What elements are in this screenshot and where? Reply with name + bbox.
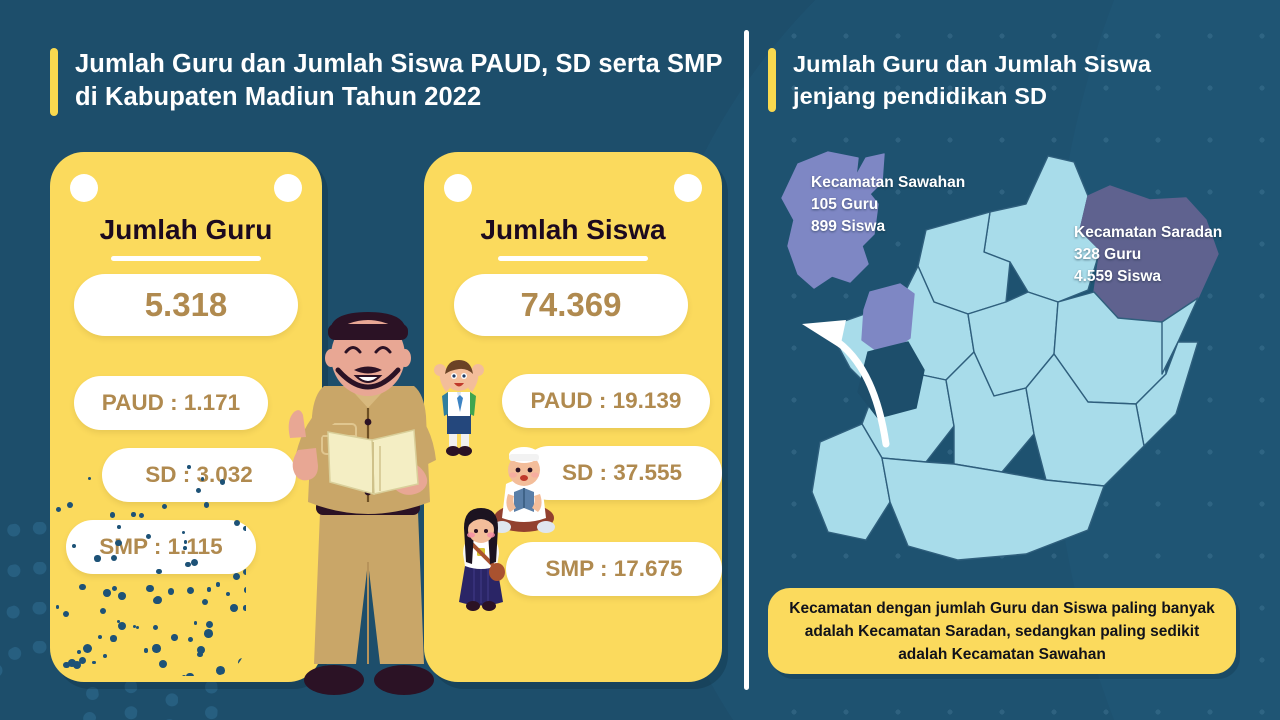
- right-panel-heading: Jumlah Guru dan Jumlah Siswa jenjang pen…: [768, 48, 1238, 112]
- student-girl-illustration: [452, 506, 510, 614]
- map-label-saradan: Kecamatan Saradan 328 Guru 4.559 Siswa: [1074, 222, 1222, 288]
- card-title-underline: [498, 256, 648, 261]
- right-panel-title: Jumlah Guru dan Jumlah Siswa jenjang pen…: [793, 48, 1238, 112]
- infographic-canvas: Jumlah Guru dan Jumlah Siswa PAUD, SD se…: [0, 0, 1280, 720]
- card-punch-hole-left: [70, 174, 98, 202]
- guru-row-paud: PAUD : 1.171: [74, 376, 268, 430]
- map-label-sawahan: Kecamatan Sawahan 105 Guru 899 Siswa: [811, 172, 965, 238]
- map-label-sawahan-name: Kecamatan Sawahan: [811, 172, 965, 194]
- card-title-underline: [111, 256, 261, 261]
- guru-row-sd: SD : 3.032: [102, 448, 296, 502]
- guru-row-smp: SMP : 1.115: [66, 520, 256, 574]
- map-label-saradan-siswa: 4.559 Siswa: [1074, 266, 1222, 288]
- panel-divider: [744, 30, 749, 690]
- card-punch-hole-left: [444, 174, 472, 202]
- summary-note-text: Kecamatan dengan jumlah Guru dan Siswa p…: [768, 597, 1236, 666]
- card-title-siswa: Jumlah Siswa: [424, 214, 722, 246]
- card-punch-hole-right: [674, 174, 702, 202]
- card-title-guru: Jumlah Guru: [50, 214, 322, 246]
- siswa-row-paud: PAUD : 19.139: [502, 374, 710, 428]
- heading-accent-bar: [768, 48, 776, 112]
- guru-total-value: 5.318: [74, 274, 298, 336]
- card-punch-hole-right: [274, 174, 302, 202]
- map-label-saradan-guru: 328 Guru: [1074, 244, 1222, 266]
- student-boy-cheering-illustration: [428, 358, 490, 458]
- map-label-sawahan-siswa: 899 Siswa: [811, 216, 965, 238]
- siswa-row-smp: SMP : 17.675: [506, 542, 722, 596]
- summary-note-box: Kecamatan dengan jumlah Guru dan Siswa p…: [768, 588, 1236, 674]
- left-panel-heading: Jumlah Guru dan Jumlah Siswa PAUD, SD se…: [50, 48, 730, 116]
- map-label-saradan-name: Kecamatan Saradan: [1074, 222, 1222, 244]
- heading-accent-bar: [50, 48, 58, 116]
- map-label-sawahan-guru: 105 Guru: [811, 194, 965, 216]
- left-panel-title: Jumlah Guru dan Jumlah Siswa PAUD, SD se…: [75, 48, 730, 114]
- siswa-total-value: 74.369: [454, 274, 688, 336]
